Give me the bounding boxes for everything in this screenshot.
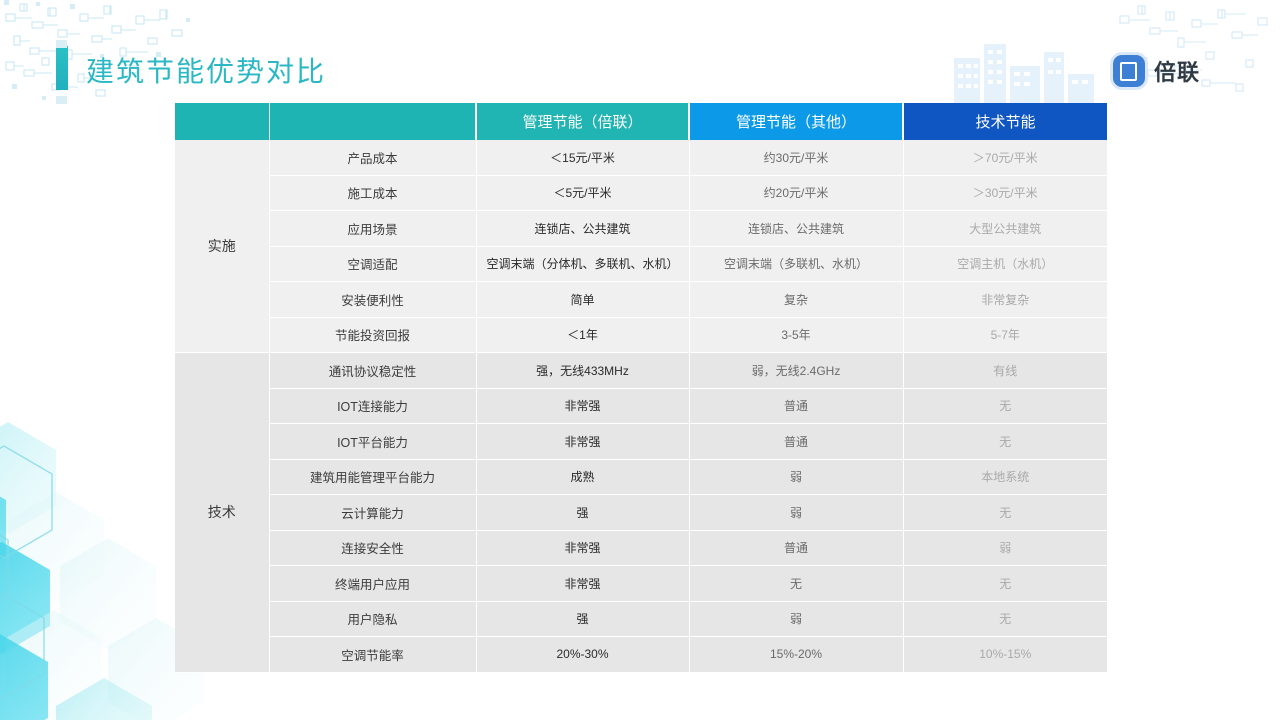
header-row: 管理节能（倍联） 管理节能（其他） 技术节能 — [175, 103, 1107, 140]
cell-others: 约20元/平米 — [689, 175, 903, 211]
row-item-label: IOT平台能力 — [269, 424, 476, 460]
cell-beilian: ＜15元/平米 — [476, 140, 689, 175]
cell-beilian: 20%-30% — [476, 637, 689, 673]
cell-technical: 无 — [903, 424, 1107, 460]
cell-others: 连锁店、公共建筑 — [689, 211, 903, 247]
row-item-label: 终端用户应用 — [269, 566, 476, 602]
cell-beilian: ＜1年 — [476, 317, 689, 353]
table-row: 节能投资回报＜1年3-5年5-7年 — [175, 317, 1107, 353]
cell-others: 复杂 — [689, 282, 903, 318]
cell-others: 15%-20% — [689, 637, 903, 673]
cell-technical: 无 — [903, 566, 1107, 602]
brand-logo: 倍联 — [1113, 55, 1200, 87]
row-item-label: 施工成本 — [269, 175, 476, 211]
cell-others: 弱 — [689, 601, 903, 637]
cell-technical: 有线 — [903, 353, 1107, 389]
table-row: 建筑用能管理平台能力成熟弱本地系统 — [175, 459, 1107, 495]
row-item-label: 建筑用能管理平台能力 — [269, 459, 476, 495]
cell-others: 弱，无线2.4GHz — [689, 353, 903, 389]
logo-inner-shape — [1120, 62, 1137, 81]
table-row: 用户隐私强弱无 — [175, 601, 1107, 637]
cell-technical: 无 — [903, 388, 1107, 424]
cell-others: 弱 — [689, 495, 903, 531]
cell-beilian: 强 — [476, 601, 689, 637]
title-tick-1 — [56, 40, 67, 48]
cell-beilian: 非常强 — [476, 424, 689, 460]
cell-beilian: 非常强 — [476, 530, 689, 566]
table-row: 安装便利性简单复杂非常复杂 — [175, 282, 1107, 318]
cell-beilian: 非常强 — [476, 566, 689, 602]
table-header: 管理节能（倍联） 管理节能（其他） 技术节能 — [175, 103, 1107, 140]
cell-others: 普通 — [689, 424, 903, 460]
row-item-label: 云计算能力 — [269, 495, 476, 531]
cell-technical: 5-7年 — [903, 317, 1107, 353]
cell-beilian: 简单 — [476, 282, 689, 318]
cell-others: 普通 — [689, 388, 903, 424]
title-tick-2 — [56, 96, 67, 104]
cell-others: 普通 — [689, 530, 903, 566]
cell-others: 3-5年 — [689, 317, 903, 353]
cell-beilian: ＜5元/平米 — [476, 175, 689, 211]
table-row: 施工成本＜5元/平米约20元/平米＞30元/平米 — [175, 175, 1107, 211]
row-item-label: 节能投资回报 — [269, 317, 476, 353]
header-col-technical: 技术节能 — [903, 103, 1107, 140]
cell-technical: 无 — [903, 601, 1107, 637]
cell-beilian: 强，无线433MHz — [476, 353, 689, 389]
comparison-table-wrapper: 管理节能（倍联） 管理节能（其他） 技术节能 实施产品成本＜15元/平米约30元… — [175, 103, 1107, 673]
cell-technical: 无 — [903, 495, 1107, 531]
table-row: 实施产品成本＜15元/平米约30元/平米＞70元/平米 — [175, 140, 1107, 175]
cell-technical: 本地系统 — [903, 459, 1107, 495]
cell-others: 无 — [689, 566, 903, 602]
table-row: 应用场景连锁店、公共建筑连锁店、公共建筑大型公共建筑 — [175, 211, 1107, 247]
page-title: 建筑节能优势对比 — [86, 50, 326, 90]
row-item-label: 产品成本 — [269, 140, 476, 175]
cell-technical: 10%-15% — [903, 637, 1107, 673]
row-item-label: IOT连接能力 — [269, 388, 476, 424]
logo-text: 倍联 — [1154, 55, 1200, 87]
header-item-blank — [269, 103, 476, 140]
slide-canvas: 建筑节能优势对比 倍联 管理节能（倍联） 管理节能（其他） 技术节能 实施产品成… — [0, 0, 1280, 720]
row-item-label: 空调节能率 — [269, 637, 476, 673]
cell-beilian: 强 — [476, 495, 689, 531]
cell-technical: ＞30元/平米 — [903, 175, 1107, 211]
table-row: 技术通讯协议稳定性强，无线433MHz弱，无线2.4GHz有线 — [175, 353, 1107, 389]
row-item-label: 安装便利性 — [269, 282, 476, 318]
cell-technical: 空调主机（水机） — [903, 246, 1107, 282]
table-row: IOT平台能力非常强普通无 — [175, 424, 1107, 460]
table-body: 实施产品成本＜15元/平米约30元/平米＞70元/平米施工成本＜5元/平米约20… — [175, 140, 1107, 672]
cell-technical: ＞70元/平米 — [903, 140, 1107, 175]
cell-others: 约30元/平米 — [689, 140, 903, 175]
cell-technical: 大型公共建筑 — [903, 211, 1107, 247]
cell-technical: 非常复杂 — [903, 282, 1107, 318]
group-label-cell: 实施 — [175, 140, 269, 353]
table-row: 空调适配空调末端（分体机、多联机、水机）空调末端（多联机、水机）空调主机（水机） — [175, 246, 1107, 282]
comparison-table: 管理节能（倍联） 管理节能（其他） 技术节能 实施产品成本＜15元/平米约30元… — [175, 103, 1107, 673]
table-row: 云计算能力强弱无 — [175, 495, 1107, 531]
group-label-cell: 技术 — [175, 353, 269, 673]
cell-beilian: 非常强 — [476, 388, 689, 424]
rounded-square-logo-icon — [1113, 55, 1145, 87]
header-col-beilian: 管理节能（倍联） — [476, 103, 689, 140]
table-row: 终端用户应用非常强无无 — [175, 566, 1107, 602]
title-accent-bar — [56, 46, 68, 90]
header-col-others: 管理节能（其他） — [689, 103, 903, 140]
row-item-label: 应用场景 — [269, 211, 476, 247]
table-row: IOT连接能力非常强普通无 — [175, 388, 1107, 424]
cell-beilian: 成熟 — [476, 459, 689, 495]
header-group-blank — [175, 103, 269, 140]
table-row: 空调节能率20%-30%15%-20%10%-15% — [175, 637, 1107, 673]
cell-technical: 弱 — [903, 530, 1107, 566]
cell-others: 空调末端（多联机、水机） — [689, 246, 903, 282]
row-item-label: 连接安全性 — [269, 530, 476, 566]
row-item-label: 用户隐私 — [269, 601, 476, 637]
row-item-label: 通讯协议稳定性 — [269, 353, 476, 389]
row-item-label: 空调适配 — [269, 246, 476, 282]
cell-beilian: 连锁店、公共建筑 — [476, 211, 689, 247]
cell-beilian: 空调末端（分体机、多联机、水机） — [476, 246, 689, 282]
table-row: 连接安全性非常强普通弱 — [175, 530, 1107, 566]
cell-others: 弱 — [689, 459, 903, 495]
